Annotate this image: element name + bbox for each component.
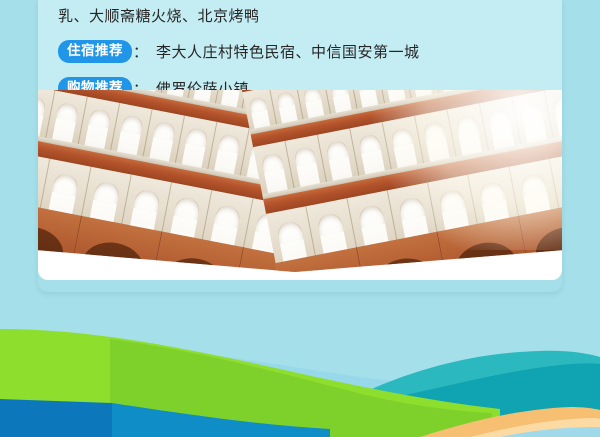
lodging-recommendation-row: 住宿推荐 ： 李大人庄村特色民宿、中信国安第一城 [38,36,562,67]
food-line-text: 乳、大顺斋糖火烧、北京烤鸭 [58,5,260,26]
arcade-photo [38,90,562,272]
lodging-separator: ： [133,41,148,62]
wave-svg [0,317,600,437]
bottom-wave-decoration [0,317,600,437]
arcade-right-wing [237,90,562,272]
content-card: 乳、大顺斋糖火烧、北京烤鸭 住宿推荐 ： 李大人庄村特色民宿、中信国安第一城 购… [38,0,562,280]
arcade-photo-image [38,90,562,272]
food-line-row: 乳、大顺斋糖火烧、北京烤鸭 [38,0,562,30]
poster-canvas: 乳、大顺斋糖火烧、北京烤鸭 住宿推荐 ： 李大人庄村特色民宿、中信国安第一城 购… [0,0,600,437]
lodging-badge: 住宿推荐 [58,40,132,63]
lodging-value-text: 李大人庄村特色民宿、中信国安第一城 [156,41,420,62]
